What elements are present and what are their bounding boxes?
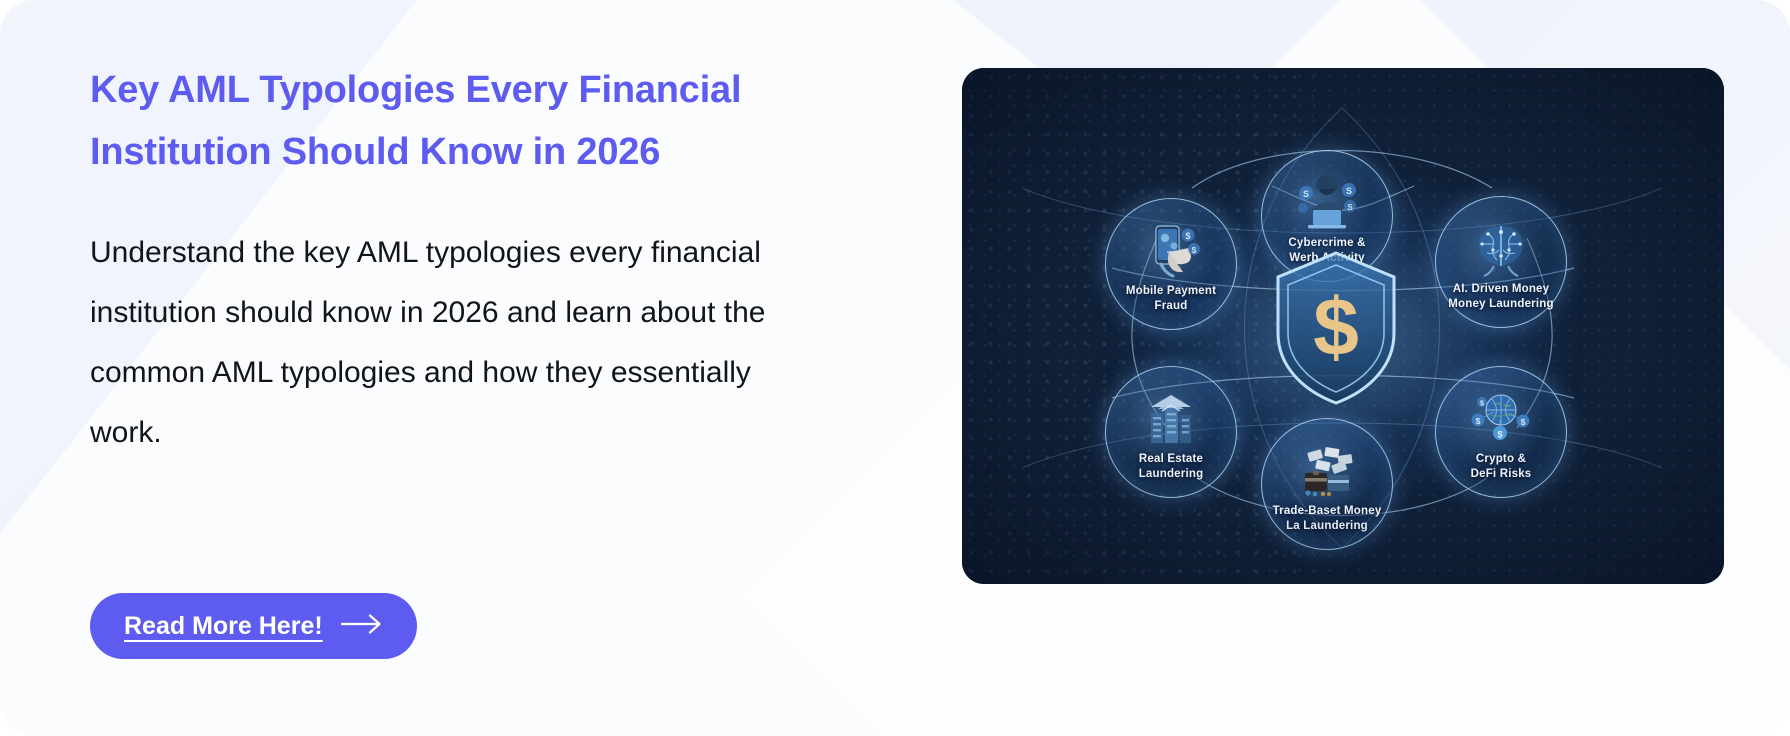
svg-text:S: S	[1347, 203, 1353, 212]
svg-text:S: S	[1346, 186, 1352, 196]
node-label: Trade-Baset Money La Laundering	[1273, 504, 1382, 533]
node-crypto-defi-risks[interactable]: $ $ $ $ Crypto & DeFi Risks	[1435, 366, 1567, 498]
svg-text:$: $	[1521, 417, 1526, 427]
read-more-button[interactable]: Read More Here!	[90, 593, 417, 659]
node-cluster: S S S Cybercrime & Werb Activity	[1083, 98, 1589, 558]
brain-circuit-icon	[1466, 220, 1536, 278]
arrow-right-icon	[341, 613, 383, 640]
body-paragraph: Understand the key AML typologies every …	[90, 223, 790, 463]
node-mobile-payment-fraud[interactable]: $ $ Mobile Payment Fraud	[1105, 198, 1237, 330]
hacker-laptop-icon: S S S	[1294, 173, 1360, 233]
svg-text:$: $	[1185, 231, 1190, 241]
node-ai-driven-money-laundering[interactable]: AI. Driven Money Money Laundering	[1435, 196, 1567, 328]
node-label: Crypto & DeFi Risks	[1471, 452, 1532, 481]
hero-image-panel: S S S Cybercrime & Werb Activity	[962, 68, 1724, 584]
node-trade-based-money-laundering[interactable]: Trade-Baset Money La Laundering	[1261, 418, 1393, 550]
shield-dollar-icon: $	[1270, 249, 1402, 407]
svg-text:$: $	[1192, 245, 1197, 255]
svg-text:S: S	[1303, 189, 1309, 199]
buildings-icon	[1138, 391, 1204, 447]
svg-text:$: $	[1313, 282, 1359, 373]
svg-text:$: $	[1476, 416, 1481, 426]
cash-crate-icon	[1292, 443, 1362, 499]
text-column: Key AML Typologies Every Financial Insti…	[90, 60, 880, 463]
read-more-label: Read More Here!	[124, 612, 323, 641]
page-title: Key AML Typologies Every Financial Insti…	[90, 60, 880, 183]
node-label: Real Estate Laundering	[1139, 452, 1204, 481]
promo-card: Key AML Typologies Every Financial Insti…	[0, 0, 1790, 736]
svg-text:$: $	[1497, 430, 1503, 441]
node-label: AI. Driven Money Money Laundering	[1448, 282, 1553, 311]
node-label: Mobile Payment Fraud	[1126, 284, 1216, 313]
smartphone-hand-icon: $ $	[1139, 222, 1203, 280]
node-real-estate-laundering[interactable]: Real Estate Laundering	[1105, 366, 1237, 498]
globe-coins-icon: $ $ $ $	[1466, 390, 1536, 448]
svg-text:$: $	[1480, 401, 1484, 408]
